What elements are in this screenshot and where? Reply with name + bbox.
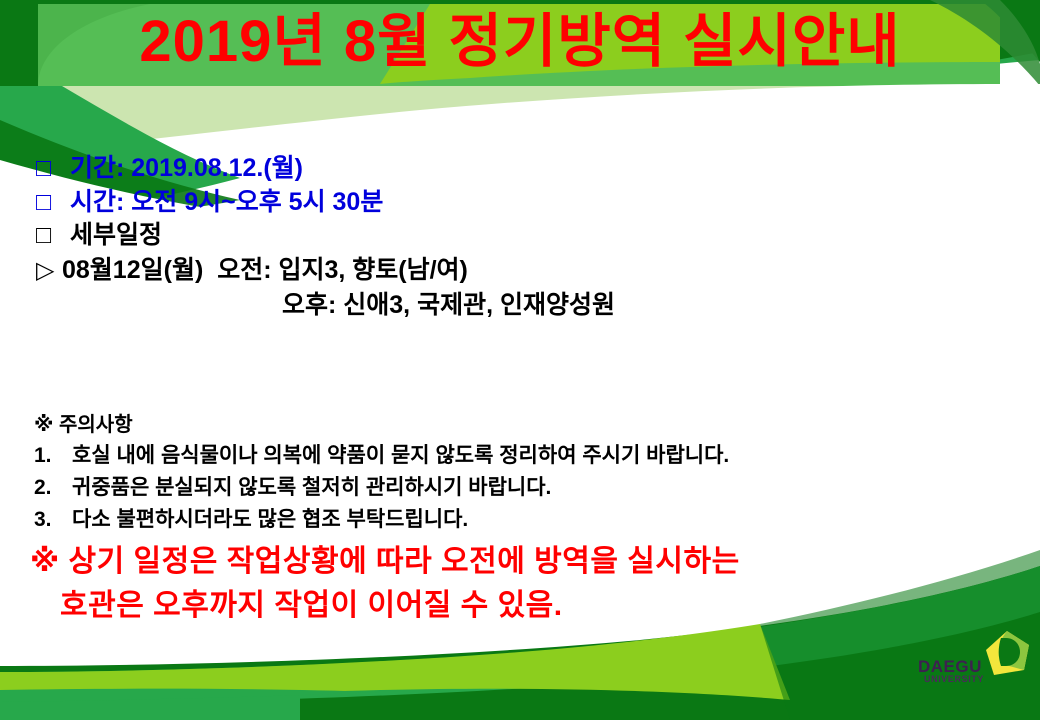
notice-item-text: 다소 불편하시더라도 많은 협조 부탁드립니다.: [72, 504, 468, 536]
schedule-row-afternoon: 오후: 신애3, 국제관, 인재양성원: [36, 288, 1026, 324]
body-item-period-text: 기간: 2019.08.12.(월): [70, 152, 303, 186]
announcement-slide: 2019년 8월 정기방역 실시안내 □ 기간: 2019.08.12.(월) …: [0, 0, 1040, 720]
body-item-schedule-heading: □ 세부일정: [36, 219, 1026, 253]
notice-item: 1. 호실 내에 음식물이나 의복에 약품이 묻지 않도록 정리하여 주시기 바…: [34, 440, 1034, 472]
notice-item-number: 2.: [34, 472, 72, 504]
warning-section: ※ 상기 일정은 작업상황에 따라 오전에 방역을 실시하는 호관은 오후까지 …: [30, 540, 1030, 627]
body-item-time: □ 시간: 오전 9시~오후 5시 30분: [36, 186, 1026, 220]
schedule-afternoon-period: 오후:: [282, 288, 336, 324]
body-content: □ 기간: 2019.08.12.(월) □ 시간: 오전 9시~오후 5시 3…: [36, 152, 1026, 324]
schedule-afternoon-locations: 신애3, 국제관, 인재양성원: [343, 288, 615, 324]
notice-item-text: 호실 내에 음식물이나 의복에 약품이 묻지 않도록 정리하여 주시기 바랍니다…: [72, 440, 729, 472]
warning-line-1: ※ 상기 일정은 작업상황에 따라 오전에 방역을 실시하는: [30, 540, 1030, 584]
body-item-time-text: 시간: 오전 9시~오후 5시 30분: [70, 186, 383, 220]
notice-section: ※ 주의사항 1. 호실 내에 음식물이나 의복에 약품이 묻지 않도록 정리하…: [34, 410, 1034, 536]
schedule-row-morning: ▷ 08월12일(월) 오전: 입지3, 향토(남/여): [36, 253, 1026, 289]
notice-heading: ※ 주의사항: [34, 410, 1034, 440]
body-item-period: □ 기간: 2019.08.12.(월): [36, 152, 1026, 186]
daegu-university-logo: DAEGU UNIVERSITY: [918, 630, 1030, 702]
schedule-spacer-2: [272, 253, 279, 289]
square-bullet-icon: □: [36, 186, 70, 220]
square-bullet-icon: □: [36, 152, 70, 186]
notice-item-text: 귀중품은 분실되지 않도록 철저히 관리하시기 바랍니다.: [72, 472, 551, 504]
notice-item: 3. 다소 불편하시더라도 많은 협조 부탁드립니다.: [34, 504, 1034, 536]
schedule-spacer-3: [336, 288, 343, 324]
schedule-morning-period: 오전:: [217, 253, 271, 289]
notice-item-number: 3.: [34, 504, 72, 536]
notice-item: 2. 귀중품은 분실되지 않도록 철저히 관리하시기 바랍니다.: [34, 472, 1034, 504]
logo-name: DAEGU: [918, 658, 1006, 675]
schedule-spacer: [203, 253, 217, 289]
logo-subtitle: UNIVERSITY: [924, 675, 1012, 684]
notice-item-number: 1.: [34, 440, 72, 472]
square-bullet-icon: □: [36, 219, 70, 253]
schedule-date: 08월12일(월): [62, 253, 203, 289]
schedule-morning-locations: 입지3, 향토(남/여): [278, 253, 467, 289]
warning-line-2: 호관은 오후까지 작업이 이어질 수 있음.: [30, 584, 1030, 628]
triangle-bullet-icon: ▷: [36, 254, 62, 288]
body-item-schedule-heading-text: 세부일정: [70, 219, 162, 253]
slide-title: 2019년 8월 정기방역 실시안내: [0, 4, 1040, 80]
